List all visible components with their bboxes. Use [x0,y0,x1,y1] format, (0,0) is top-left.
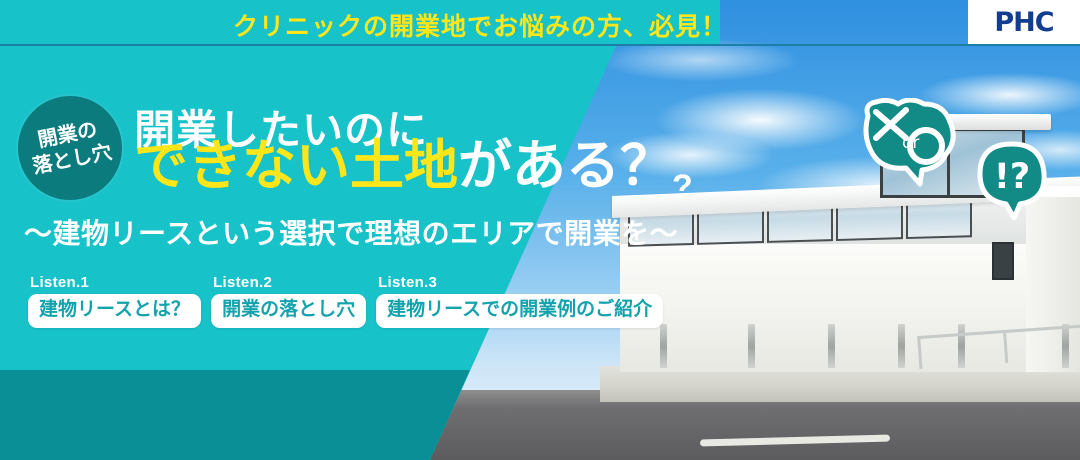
listen-label: Listen.3 [378,274,663,291]
door-panel [992,242,1014,280]
wall-slit [828,324,835,368]
listen-label: Listen.1 [30,274,201,291]
listen-item-3[interactable]: Listen.3 建物リースでの開業例のご紹介 [376,274,663,328]
listen-item-2[interactable]: Listen.2 開業の落とし穴 [211,274,366,328]
top-banner-text: クリニックの開業地でお悩みの方、必見！ [0,7,960,43]
subheadline: 〜建物リースという選択で理想のエリアで開業を〜 [24,212,678,252]
speech-bubble-cross-or-circle: or [862,98,958,190]
wall-slit [898,324,905,368]
bubble-interrobang-text: !? [994,157,1030,197]
phc-logo-text: PHC [994,7,1053,38]
speech-bubble-interrobang: !? [972,140,1052,220]
listen-item-1[interactable]: Listen.1 建物リースとは？ [28,274,201,328]
headline-line-2: できない土地がある？? [134,139,695,193]
wall-slit [660,324,667,368]
headline-small-question: ? [672,168,693,206]
headline-rest: がある？ [458,136,674,196]
listen-label: Listen.2 [213,274,366,291]
wall-slit [748,324,755,368]
listen-pill[interactable]: 開業の落とし穴 [211,294,366,328]
top-banner-bar: クリニックの開業地でお悩みの方、必見！ PHC [0,0,1080,46]
listen-pill[interactable]: 建物リースでの開業例のご紹介 [376,294,663,328]
headline-highlight: できない土地 [134,136,458,196]
promo-banner: クリニックの開業地でお悩みの方、必見！ PHC 開業の 落とし穴 開業したいのに… [0,0,1080,460]
listen-list: Listen.1 建物リースとは？ Listen.2 開業の落とし穴 Liste… [28,274,663,328]
bubble-or-text: or [902,133,919,153]
phc-logo[interactable]: PHC [968,0,1080,44]
listen-pill[interactable]: 建物リースとは？ [28,294,201,328]
